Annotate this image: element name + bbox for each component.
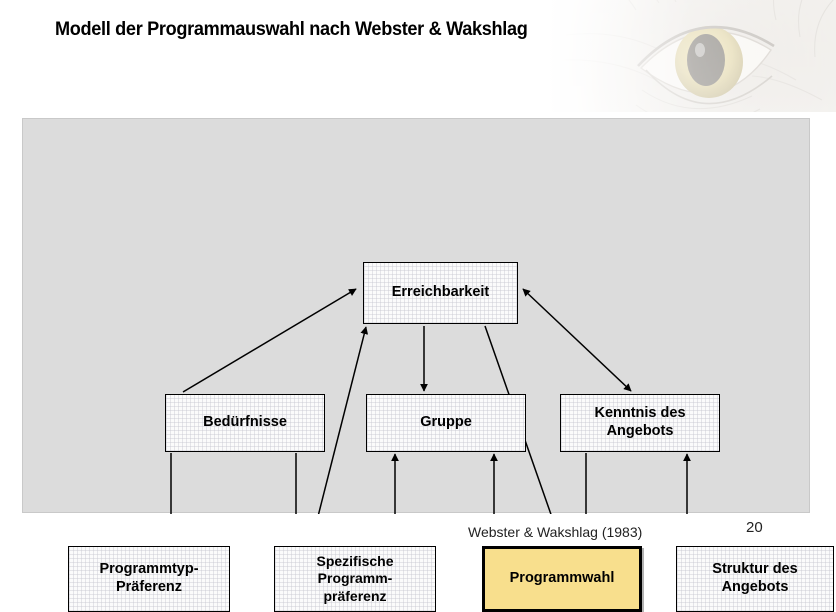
node-beduerfnisse[interactable]: Bedürfnisse — [165, 394, 325, 452]
node-programmwahl[interactable]: Programmwahl — [482, 546, 642, 612]
diagram-panel: Erreichbarkeit Bedürfnisse Gruppe Kenntn… — [22, 118, 810, 513]
node-struktur-des-angebots-label: Struktur desAngebots — [708, 561, 801, 596]
node-kenntnis-des-angebots[interactable]: Kenntnis desAngebots — [560, 394, 720, 452]
source-citation: Webster & Wakshlag (1983) — [468, 524, 642, 540]
page-number: 20 — [746, 519, 763, 536]
edge-erreichbarkeit-kenntnis — [523, 289, 631, 391]
node-spezifische-programmpraeferenz[interactable]: SpezifischeProgramm-präferenz — [274, 546, 436, 612]
node-gruppe[interactable]: Gruppe — [366, 394, 526, 452]
owl-eye-icon — [546, 0, 836, 112]
node-gruppe-label: Gruppe — [416, 414, 476, 432]
node-programmtyp-praeferenz-label: Programmtyp-Präferenz — [95, 561, 202, 596]
node-spezifische-programmpraeferenz-label: SpezifischeProgramm-präferenz — [312, 553, 397, 604]
node-erreichbarkeit[interactable]: Erreichbarkeit — [363, 262, 518, 324]
edge-beduerfnisse-erreichbarkeit — [183, 289, 356, 392]
owl-eye-decorative-image — [516, 0, 836, 112]
node-kenntnis-des-angebots-label: Kenntnis desAngebots — [590, 405, 689, 440]
node-programmwahl-label: Programmwahl — [506, 570, 619, 588]
node-erreichbarkeit-label: Erreichbarkeit — [388, 284, 494, 302]
node-beduerfnisse-label: Bedürfnisse — [199, 414, 291, 432]
page-title: Modell der Programmauswahl nach Webster … — [55, 18, 527, 41]
node-programmtyp-praeferenz[interactable]: Programmtyp-Präferenz — [68, 546, 230, 612]
node-struktur-des-angebots[interactable]: Struktur desAngebots — [676, 546, 834, 612]
